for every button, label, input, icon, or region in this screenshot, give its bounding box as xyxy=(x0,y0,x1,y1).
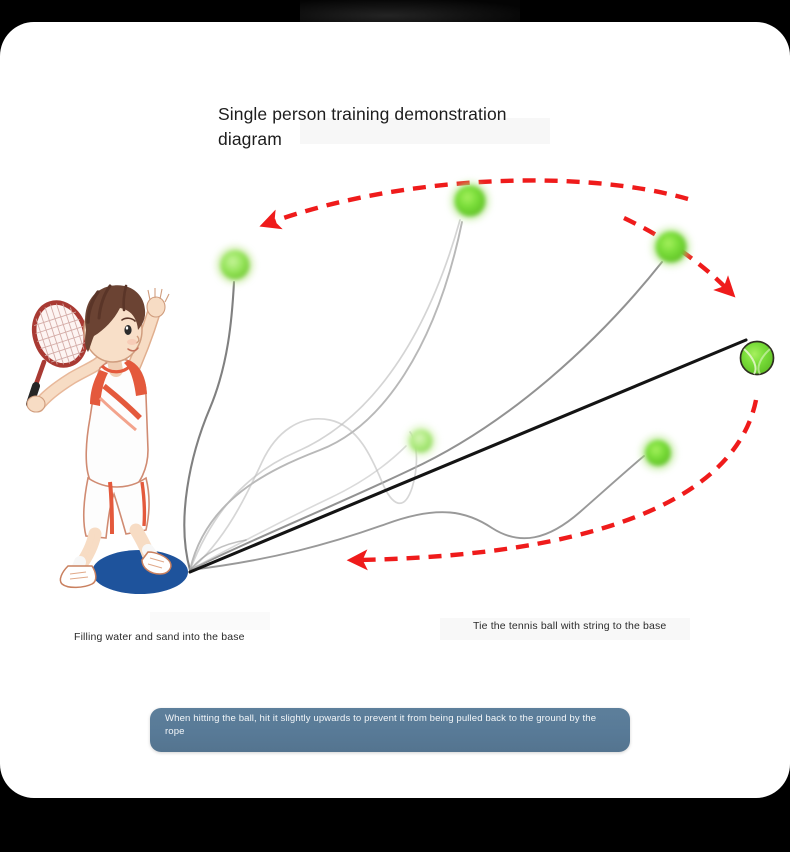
elastic-strings xyxy=(184,220,662,570)
screenshot-canvas: Single person training demonstration dia… xyxy=(0,0,790,852)
raised-hand xyxy=(147,288,169,317)
arrow-bottom xyxy=(360,400,756,560)
ball-far-right xyxy=(741,342,774,375)
ball-top-center xyxy=(450,181,490,221)
ball-upper-right xyxy=(651,227,691,267)
illustration-card: Single person training demonstration dia… xyxy=(0,22,790,798)
ball-mid-right xyxy=(640,435,676,471)
ball-center xyxy=(405,425,437,457)
caption-tie-ball: Tie the tennis ball with string to the b… xyxy=(473,620,666,632)
caption-filling-base: Filling water and sand into the base xyxy=(74,631,245,643)
ball-upper-left xyxy=(216,246,254,284)
tip-callout-text: When hitting the ball, hit it slightly u… xyxy=(165,712,605,739)
page-title: Single person training demonstration dia… xyxy=(218,102,638,152)
tennis-balls xyxy=(216,181,774,471)
tennis-player-illustration xyxy=(26,285,171,587)
training-base xyxy=(92,550,188,594)
